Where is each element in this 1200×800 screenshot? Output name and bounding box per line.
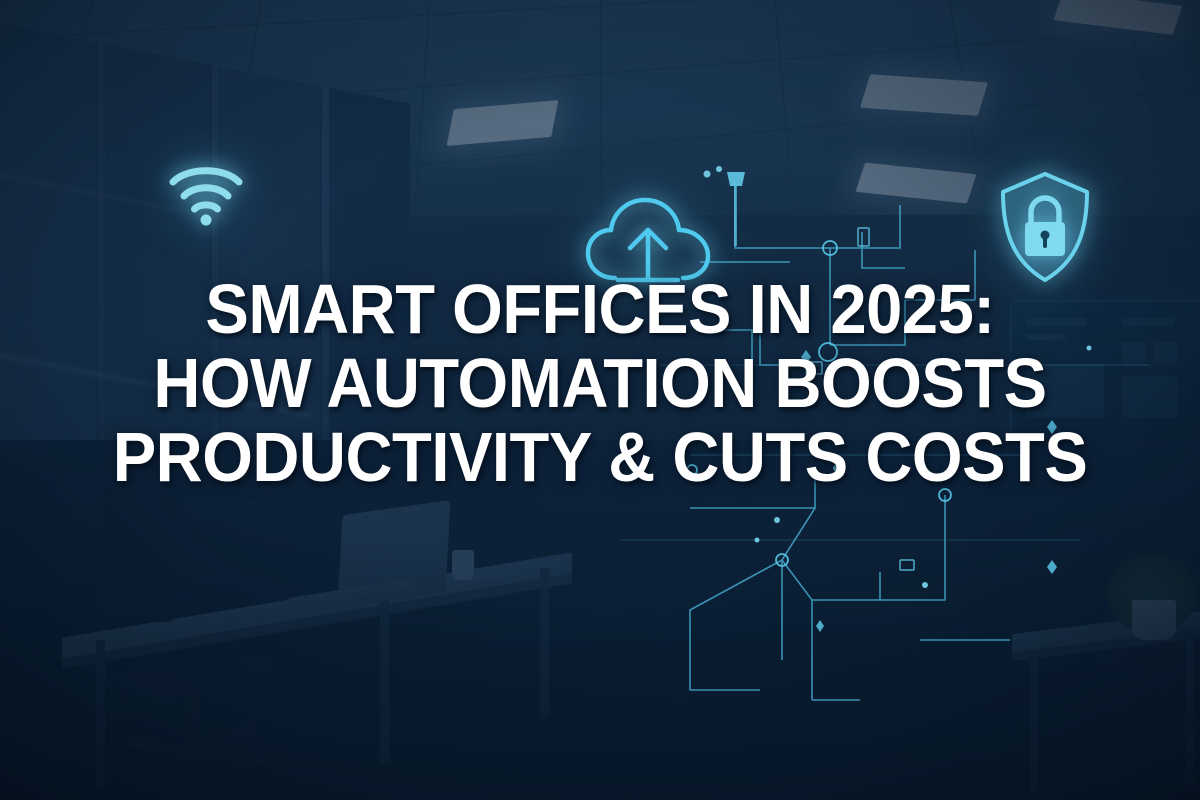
title-line-2: HOW AUTOMATION BOOSTS [42,346,1158,420]
wifi-icon [163,155,249,227]
blog-hero-banner: SMART OFFICES IN 2025: HOW AUTOMATION BO… [0,0,1200,800]
page-title: SMART OFFICES IN 2025: HOW AUTOMATION BO… [0,272,1200,494]
title-line-3: PRODUCTIVITY & CUTS COSTS [42,420,1158,494]
title-line-1: SMART OFFICES IN 2025: [42,272,1158,346]
shield-lock-icon [995,168,1095,286]
